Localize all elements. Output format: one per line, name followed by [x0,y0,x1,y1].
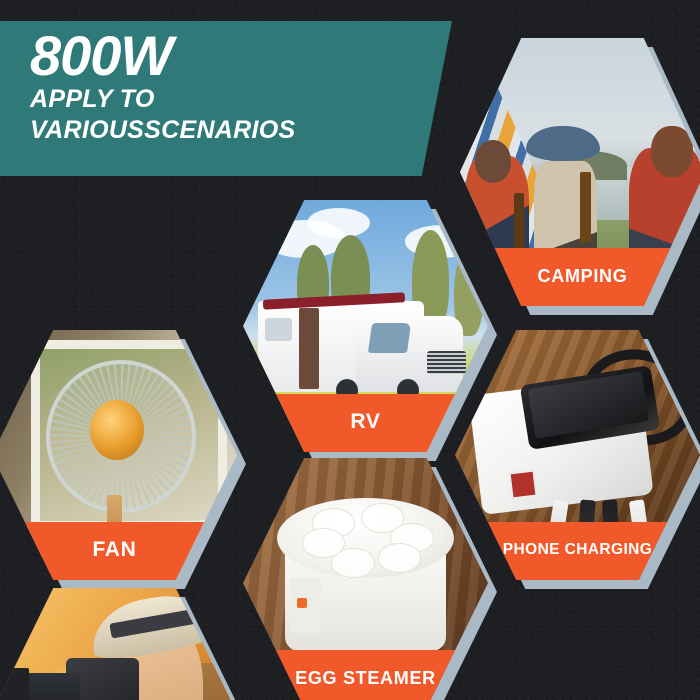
header-banner-text-block: 800W APPLY TO VARIOUSSCENARIOS [30,27,442,145]
headline-line-2: APPLY TO [30,84,442,115]
scenario-hex-rv[interactable]: RV [243,200,488,452]
scenario-hex-phone-charging[interactable]: PHONE CHARGING [455,330,700,580]
scenario-label-fan: FAN [92,538,136,564]
scenario-label-egg-steamer: EGG STEAMER [295,668,436,691]
photography-photo [0,588,237,700]
scenario-hex-camping[interactable]: CAMPING [460,38,700,306]
scenario-hex-photography[interactable] [0,588,237,700]
scenario-label-camping: CAMPING [538,266,628,289]
scenario-label-phone-charging: PHONE CHARGING [503,541,652,561]
wattage-headline: 800W [30,27,442,84]
hex-body-photography [0,588,237,700]
header-banner: 800W APPLY TO VARIOUSSCENARIOS [0,21,452,176]
product-feature-poster: 800W APPLY TO VARIOUSSCENARIOS CAMPING [0,0,700,700]
scenario-label-rv: RV [350,410,380,436]
scenario-hex-fan[interactable]: FAN [0,330,237,580]
scenario-hex-egg-steamer[interactable]: EGG STEAMER [243,458,488,700]
headline-line-3: VARIOUSSCENARIOS [30,115,442,146]
